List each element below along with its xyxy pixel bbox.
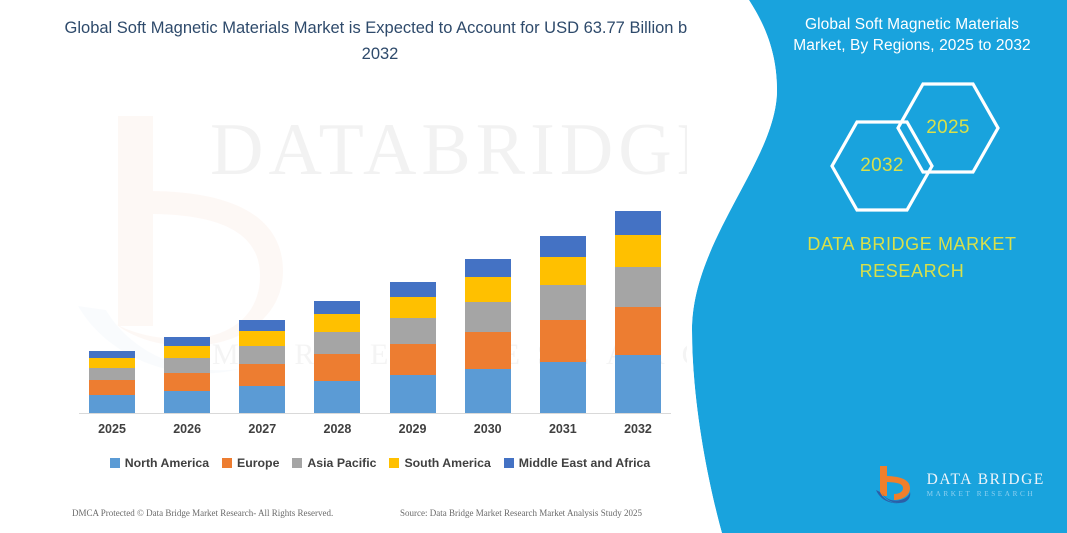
legend-item-south-america[interactable]: South America [389,456,490,470]
footer: DMCA Protected © Data Bridge Market Rese… [0,508,760,528]
bar-segment-north-america [615,355,661,413]
plot-region [75,96,675,413]
x-axis-label-2032: 2032 [615,422,661,436]
bar-segment-middle-east-and-africa [314,301,360,314]
chart-legend: North AmericaEuropeAsia PacificSouth Ame… [75,456,685,470]
bar-segment-asia-pacific [390,318,436,344]
bar-segment-middle-east-and-africa [540,236,586,257]
legend-label: Middle East and Africa [519,456,650,470]
bar-segment-asia-pacific [540,285,586,320]
bar-segment-europe [615,307,661,355]
bar-segment-asia-pacific [465,302,511,332]
hexagon-2032-label: 2032 [829,119,935,213]
bar-segment-europe [390,344,436,375]
x-axis-label-2025: 2025 [89,422,135,436]
legend-label: Asia Pacific [307,456,376,470]
hexagon-group: 2025 2032 [787,79,1037,219]
logo-tagline: MARKET RESEARCH [927,491,1045,498]
x-axis-label-2030: 2030 [465,422,511,436]
data-bridge-logo-icon [872,462,918,508]
brand-name: DATA BRIDGE MARKET RESEARCH [787,231,1037,285]
x-axis-label-2029: 2029 [390,422,436,436]
brand-panel-content: Global Soft Magnetic Materials Market, B… [757,0,1067,533]
bar-segment-north-america [314,381,360,413]
legend-item-asia-pacific[interactable]: Asia Pacific [292,456,376,470]
bar-segment-europe [314,354,360,381]
bar-2030 [465,259,511,413]
bar-segment-asia-pacific [314,332,360,354]
bar-segment-middle-east-and-africa [164,337,210,346]
x-axis-line [79,413,671,414]
bar-2031 [540,236,586,413]
bar-segment-europe [239,364,285,386]
bar-segment-europe [89,380,135,395]
brand-line-1: DATA BRIDGE MARKET [787,231,1037,258]
legend-item-middle-east-and-africa[interactable]: Middle East and Africa [504,456,650,470]
bar-segment-north-america [390,375,436,413]
company-logo: DATA BRIDGE MARKET RESEARCH [872,462,1045,508]
chart-title: Global Soft Magnetic Materials Market is… [60,16,700,67]
bar-segment-asia-pacific [164,358,210,373]
bar-2032 [615,211,661,413]
infographic-root: DATABRIDGE MARKET RESEARCH Global Soft M… [0,0,1067,533]
bar-segment-asia-pacific [615,267,661,307]
bar-segment-north-america [239,386,285,413]
legend-swatch-icon [504,458,514,468]
bar-segment-south-america [540,257,586,285]
bar-2027 [239,320,285,413]
legend-item-europe[interactable]: Europe [222,456,279,470]
footer-copyright: DMCA Protected © Data Bridge Market Rese… [72,508,333,518]
bar-segment-middle-east-and-africa [239,320,285,331]
bar-2026 [164,337,210,413]
bar-segment-south-america [465,277,511,302]
legend-label: South America [404,456,490,470]
bar-segment-south-america [89,358,135,368]
footer-source: Source: Data Bridge Market Research Mark… [400,508,642,518]
x-axis-label-2028: 2028 [314,422,360,436]
hexagon-2032: 2032 [829,119,935,213]
x-axis-label-2031: 2031 [540,422,586,436]
legend-item-north-america[interactable]: North America [110,456,209,470]
bar-segment-middle-east-and-africa [615,211,661,235]
legend-swatch-icon [110,458,120,468]
panel-title: Global Soft Magnetic Materials Market, B… [777,14,1047,57]
x-axis-label-2027: 2027 [239,422,285,436]
x-axis-labels: 20252026202720282029203020312032 [75,422,675,436]
bar-2028 [314,301,360,413]
bar-group [75,96,675,413]
bar-segment-south-america [390,297,436,318]
legend-swatch-icon [292,458,302,468]
bar-segment-north-america [465,369,511,413]
chart-area: DATABRIDGE MARKET RESEARCH Global Soft M… [0,0,760,533]
bar-segment-north-america [89,395,135,413]
bar-segment-north-america [540,362,586,413]
x-axis-label-2026: 2026 [164,422,210,436]
legend-swatch-icon [222,458,232,468]
bar-segment-south-america [314,314,360,332]
bar-segment-middle-east-and-africa [390,282,436,297]
bar-segment-south-america [615,235,661,267]
bar-segment-south-america [164,346,210,358]
bar-segment-south-america [239,331,285,346]
legend-label: Europe [237,456,279,470]
bar-2029 [390,282,436,413]
bar-segment-middle-east-and-africa [89,351,135,358]
logo-text: DATA BRIDGE MARKET RESEARCH [927,472,1045,499]
legend-label: North America [125,456,209,470]
bar-segment-europe [164,373,210,391]
brand-line-2: RESEARCH [787,258,1037,285]
bar-segment-europe [465,332,511,369]
bar-segment-asia-pacific [89,368,135,380]
bar-segment-asia-pacific [239,346,285,364]
logo-name: DATA BRIDGE [927,472,1045,488]
bar-segment-middle-east-and-africa [465,259,511,277]
bar-2025 [89,351,135,413]
bar-segment-europe [540,320,586,362]
bar-segment-north-america [164,391,210,413]
legend-swatch-icon [389,458,399,468]
